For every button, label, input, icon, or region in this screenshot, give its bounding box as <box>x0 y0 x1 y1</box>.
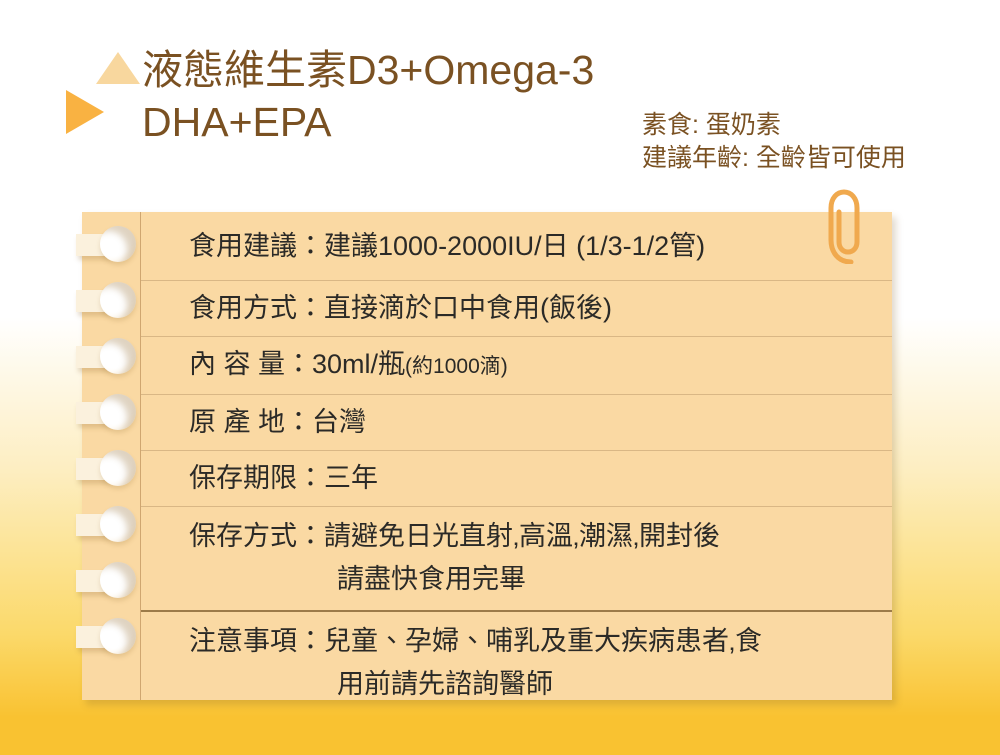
row-value-note: (約1000滴) <box>405 355 508 378</box>
row-separator: ： <box>297 521 324 551</box>
title-line-1: 液態維生素D3+Omega-3 <box>142 44 762 96</box>
row-text: 保存期限：三年 <box>189 457 892 500</box>
punch-hole <box>100 506 136 542</box>
row-separator: ： <box>297 231 324 261</box>
table-row: 保存方式：請避免日光直射‚高溫‚潮濕‚開封後 請盡快食用完畢 <box>141 507 892 612</box>
header: 液態維生素D3+Omega-3 DHA+EPA 素食: 蛋奶素 建議年齡: 全齡… <box>0 0 1000 200</box>
row-value: 台灣 <box>312 407 366 437</box>
row-separator: ： <box>297 626 324 656</box>
row-value: 請避免日光直射‚高溫‚潮濕‚開封後 <box>324 521 720 551</box>
table-row: 原 產 地：台灣 <box>141 395 892 451</box>
punch-hole <box>100 282 136 318</box>
triangle-up-icon <box>96 52 140 84</box>
punch-hole <box>100 338 136 374</box>
row-text: 原 產 地：台灣 <box>189 401 892 444</box>
punch-hole <box>100 562 136 598</box>
punch-hole <box>100 226 136 262</box>
row-value: 三年 <box>324 463 378 493</box>
table-row: 保存期限：三年 <box>141 451 892 507</box>
meta-age: 建議年齡: 全齡皆可使用 <box>642 142 992 175</box>
triangle-right-icon <box>66 90 104 134</box>
table-row: 食用建議：建議1000-2000IU/日 (1/3-1/2管) <box>141 212 892 281</box>
row-label: 食用方式 <box>189 293 297 323</box>
row-label: 原 產 地 <box>189 407 285 437</box>
table-row: 食用方式：直接滴於口中食用(飯後) <box>141 281 892 337</box>
table-row: 注意事項：兒童、孕婦、哺乳及重大疾病患者‚食 用前請先諮詢醫師 <box>141 612 892 715</box>
row-label: 保存方式 <box>189 521 297 551</box>
info-card: 食用建議：建議1000-2000IU/日 (1/3-1/2管) 食用方式：直接滴… <box>82 212 892 700</box>
meta-vegetarian: 素食: 蛋奶素 <box>642 109 992 142</box>
product-meta: 素食: 蛋奶素 建議年齡: 全齡皆可使用 <box>642 109 992 175</box>
row-separator: ： <box>285 407 312 437</box>
punch-hole <box>100 618 136 654</box>
spec-list: 食用建議：建議1000-2000IU/日 (1/3-1/2管) 食用方式：直接滴… <box>141 212 892 700</box>
row-label: 內 容 量 <box>189 349 285 379</box>
poster-canvas: 液態維生素D3+Omega-3 DHA+EPA 素食: 蛋奶素 建議年齡: 全齡… <box>0 0 1000 755</box>
row-text-continuation: 請盡快食用完畢 <box>189 558 892 601</box>
row-label: 保存期限 <box>189 463 297 493</box>
row-text: 保存方式：請避免日光直射‚高溫‚潮濕‚開封後 <box>189 515 892 558</box>
row-value: 直接滴於口中食用(飯後) <box>324 293 612 323</box>
row-label: 注意事項 <box>189 626 297 656</box>
row-text: 食用建議：建議1000-2000IU/日 (1/3-1/2管) <box>189 225 892 268</box>
row-value: 兒童、孕婦、哺乳及重大疾病患者‚食 <box>324 626 762 656</box>
row-text-continuation: 用前請先諮詢醫師 <box>189 663 892 706</box>
spiral-punch-strip <box>82 212 142 700</box>
row-text: 注意事項：兒童、孕婦、哺乳及重大疾病患者‚食 <box>189 620 892 663</box>
table-row: 內 容 量：30ml/瓶(約1000滴) <box>141 337 892 395</box>
punch-hole <box>100 394 136 430</box>
paperclip-icon <box>818 188 878 264</box>
row-separator: ： <box>285 349 312 379</box>
row-text: 食用方式：直接滴於口中食用(飯後) <box>189 287 892 330</box>
row-label: 食用建議 <box>189 231 297 261</box>
row-value: 30ml/瓶 <box>312 349 405 379</box>
row-separator: ： <box>297 463 324 493</box>
row-text: 內 容 量：30ml/瓶(約1000滴) <box>189 343 892 388</box>
row-separator: ： <box>297 293 324 323</box>
row-value: 建議1000-2000IU/日 (1/3-1/2管) <box>324 231 705 261</box>
punch-hole <box>100 450 136 486</box>
